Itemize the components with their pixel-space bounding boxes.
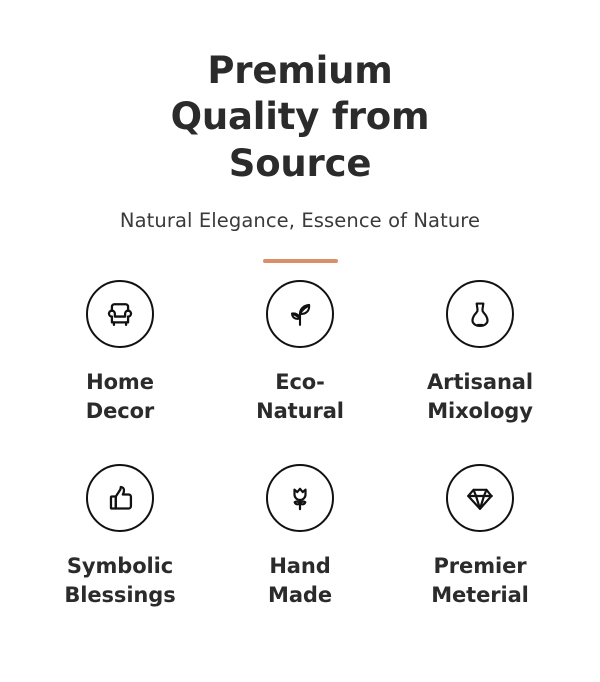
feature-item: Premier Meterial: [390, 464, 570, 610]
diamond-gem-icon: [446, 464, 514, 532]
feature-item: Home Decor: [30, 280, 210, 426]
page-title: Premium Quality from Source: [135, 48, 465, 187]
feature-label: Artisanal Mixology: [427, 368, 533, 426]
feature-item: Artisanal Mixology: [390, 280, 570, 426]
feature-item: Symbolic Blessings: [30, 464, 210, 610]
feature-label: Premier Meterial: [431, 552, 529, 610]
feature-label: Symbolic Blessings: [64, 552, 175, 610]
feature-grid: Home Decor Eco- Natural: [30, 280, 570, 610]
tulip-flower-icon: [266, 464, 334, 532]
thumbs-up-icon: [86, 464, 154, 532]
armchair-icon: [86, 280, 154, 348]
feature-label: Home Decor: [86, 368, 154, 426]
promo-banner: Premium Quality from Source Natural Eleg…: [0, 0, 600, 682]
accent-divider: [263, 259, 338, 263]
vase-icon: [446, 280, 514, 348]
feature-label: Hand Made: [268, 552, 332, 610]
page-subtitle: Natural Elegance, Essence of Nature: [0, 209, 600, 232]
feature-item: Eco- Natural: [210, 280, 390, 426]
sprout-leaf-icon: [266, 280, 334, 348]
header-section: Premium Quality from Source Natural Eleg…: [0, 0, 600, 263]
feature-item: Hand Made: [210, 464, 390, 610]
feature-label: Eco- Natural: [256, 368, 344, 426]
